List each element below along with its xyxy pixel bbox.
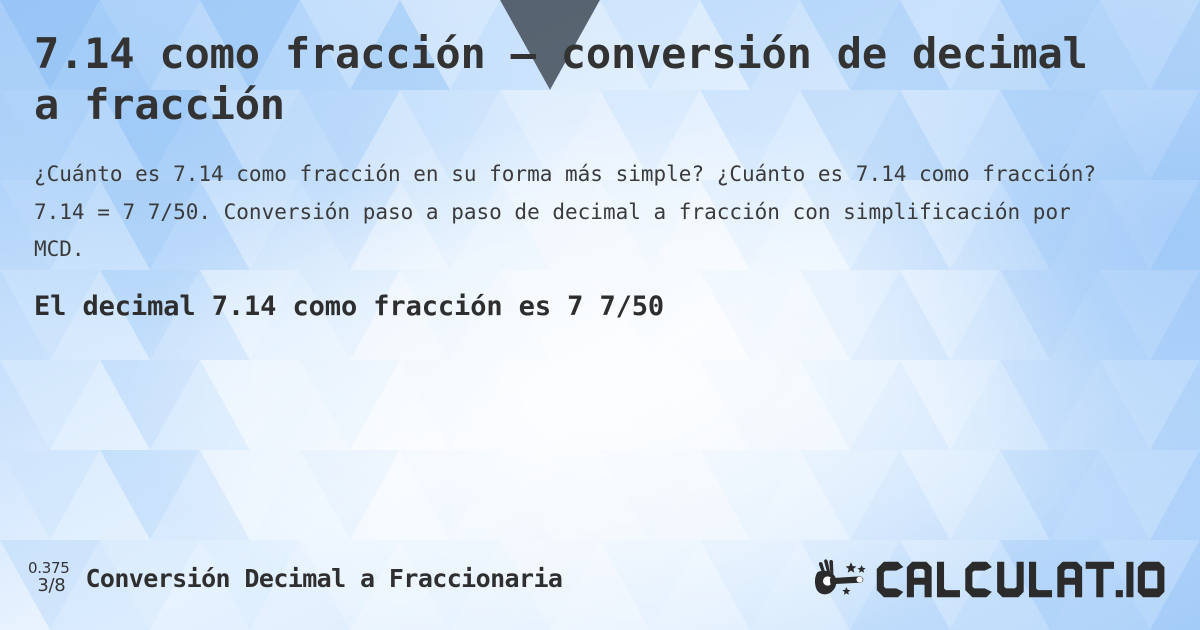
brand-wordmark: [875, 560, 1168, 599]
decimal-fraction-icon: 0.375 3/8: [28, 560, 69, 599]
decimal-fraction-icon-decimal: 0.375: [28, 560, 69, 577]
calculatio-lcd-wordmark-o: [1136, 560, 1168, 599]
footer-left-group: 0.375 3/8 Conversión Decimal a Fracciona…: [28, 560, 813, 599]
og-image-card: 7.14 como fracción – conversión de decim…: [0, 0, 1200, 630]
page-description: ¿Cuánto es 7.14 como fracción en su form…: [34, 156, 1099, 268]
page-title: 7.14 como fracción – conversión de decim…: [34, 28, 1094, 130]
card-footer: 0.375 3/8 Conversión Decimal a Fracciona…: [0, 534, 1200, 630]
calculatio-lcd-wordmark: [875, 560, 1137, 599]
brand-logo[interactable]: [813, 556, 1168, 602]
footer-section-title: Conversión Decimal a Fraccionaria: [85, 564, 562, 593]
hand-magic-wand-icon: [813, 556, 871, 602]
decimal-fraction-icon-fraction: 3/8: [37, 576, 69, 596]
answer-statement: El decimal 7.14 como fracción es 7 7/50: [34, 291, 1166, 322]
